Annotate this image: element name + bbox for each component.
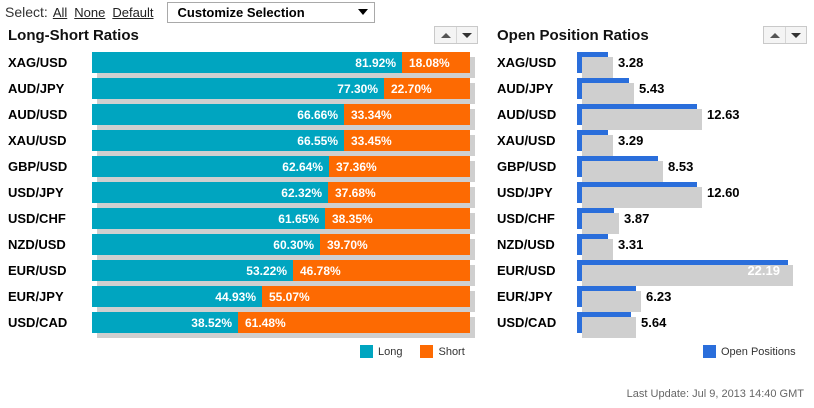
- pair-label: AUD/JPY: [8, 78, 92, 99]
- pair-label: AUD/JPY: [497, 78, 577, 99]
- long-short-ratios-panel: Long-Short Ratios XAG/USD81.92%18.08%AUD…: [8, 26, 478, 338]
- long-short-bar-track: 81.92%18.08%: [92, 52, 470, 73]
- open-position-bar[interactable]: 22.19: [577, 260, 788, 281]
- long-short-chart: XAG/USD81.92%18.08%AUD/JPY77.30%22.70%AU…: [8, 52, 478, 338]
- open-position-bar[interactable]: 5.64: [577, 312, 631, 333]
- long-segment[interactable]: 81.92%: [92, 52, 402, 73]
- open-position-value: 3.28: [618, 52, 643, 73]
- pair-label: USD/CHF: [8, 208, 92, 229]
- open-position-bar[interactable]: 3.31: [577, 234, 608, 255]
- long-short-row: AUD/USD66.66%33.34%: [8, 104, 478, 130]
- short-segment[interactable]: 61.48%: [238, 312, 470, 333]
- long-short-row: EUR/JPY44.93%55.07%: [8, 286, 478, 312]
- pair-label: NZD/USD: [497, 234, 577, 255]
- pair-label: USD/CAD: [497, 312, 577, 333]
- pair-label: GBP/USD: [8, 156, 92, 177]
- short-segment[interactable]: 33.34%: [344, 104, 470, 125]
- open-position-value: 8.53: [668, 156, 693, 177]
- long-short-bar-track: 66.55%33.45%: [92, 130, 470, 151]
- long-segment[interactable]: 66.66%: [92, 104, 344, 125]
- open-position-row: XAU/USD3.29: [497, 130, 807, 156]
- long-short-row: AUD/JPY77.30%22.70%: [8, 78, 478, 104]
- sort-descending-icon[interactable]: [785, 27, 806, 43]
- short-segment[interactable]: 22.70%: [384, 78, 470, 99]
- long-short-row: USD/CAD38.52%61.48%: [8, 312, 478, 338]
- legend-item: Long: [360, 345, 402, 358]
- long-short-bar-track: 62.32%37.68%: [92, 182, 470, 203]
- legend-label: Long: [378, 346, 402, 358]
- customize-selection-value: Customize Selection: [178, 5, 305, 20]
- long-short-row: NZD/USD60.30%39.70%: [8, 234, 478, 260]
- long-short-panel-header: Long-Short Ratios: [8, 26, 478, 52]
- long-segment[interactable]: 61.65%: [92, 208, 325, 229]
- pair-label: XAU/USD: [497, 130, 577, 151]
- long-short-bar-track: 44.93%55.07%: [92, 286, 470, 307]
- legend-label: Open Positions: [721, 346, 796, 358]
- open-position-row: NZD/USD3.31: [497, 234, 807, 260]
- short-segment[interactable]: 33.45%: [344, 130, 470, 151]
- open-position-row: USD/CHF3.87: [497, 208, 807, 234]
- open-position-bar[interactable]: 12.60: [577, 182, 697, 203]
- open-position-bar-track: 3.31: [577, 234, 805, 255]
- legend-item: Short: [420, 345, 464, 358]
- pair-label: XAG/USD: [8, 52, 92, 73]
- open-position-bar-track: 3.28: [577, 52, 805, 73]
- open-position-bar-track: 6.23: [577, 286, 805, 307]
- pair-label: XAU/USD: [8, 130, 92, 151]
- open-position-title: Open Position Ratios: [497, 26, 807, 46]
- legend-swatch: [420, 345, 433, 358]
- open-position-value: 5.64: [641, 312, 666, 333]
- open-position-bar-track: 12.60: [577, 182, 805, 203]
- legend-item: Open Positions: [703, 345, 796, 358]
- long-short-row: XAG/USD81.92%18.08%: [8, 52, 478, 78]
- select-none-link[interactable]: None: [74, 5, 105, 20]
- open-position-value: 3.87: [624, 208, 649, 229]
- short-segment[interactable]: 55.07%: [262, 286, 470, 307]
- open-position-bar[interactable]: 12.63: [577, 104, 697, 125]
- long-short-bar-track: 77.30%22.70%: [92, 78, 470, 99]
- open-position-ratios-panel: Open Position Ratios XAG/USD3.28AUD/JPY5…: [497, 26, 807, 338]
- long-segment[interactable]: 44.93%: [92, 286, 262, 307]
- open-position-row: USD/JPY12.60: [497, 182, 807, 208]
- long-short-row: USD/JPY62.32%37.68%: [8, 182, 478, 208]
- long-short-row: XAU/USD66.55%33.45%: [8, 130, 478, 156]
- open-position-bar[interactable]: 5.43: [577, 78, 629, 99]
- long-short-bar-track: 38.52%61.48%: [92, 312, 470, 333]
- select-all-link[interactable]: All: [53, 5, 67, 20]
- pair-label: AUD/USD: [8, 104, 92, 125]
- long-short-row: GBP/USD62.64%37.36%: [8, 156, 478, 182]
- short-segment[interactable]: 37.36%: [329, 156, 470, 177]
- open-position-panel-header: Open Position Ratios: [497, 26, 807, 52]
- open-position-value: 5.43: [639, 78, 664, 99]
- open-position-bar-track: 3.29: [577, 130, 805, 151]
- open-position-value: 12.60: [707, 182, 740, 203]
- open-position-bar-track: 5.64: [577, 312, 805, 333]
- open-position-row: EUR/USD22.19: [497, 260, 807, 286]
- last-update-text: Last Update: Jul 9, 2013 14:40 GMT: [627, 388, 804, 400]
- pair-label: USD/CAD: [8, 312, 92, 333]
- open-position-bar[interactable]: 8.53: [577, 156, 658, 177]
- sort-ascending-icon[interactable]: [764, 27, 785, 43]
- select-label: Select:: [5, 4, 48, 20]
- long-segment[interactable]: 53.22%: [92, 260, 293, 281]
- open-position-bar-track: 5.43: [577, 78, 805, 99]
- long-short-bar-track: 66.66%33.34%: [92, 104, 470, 125]
- pair-label: EUR/USD: [497, 260, 577, 281]
- open-position-bar[interactable]: 6.23: [577, 286, 636, 307]
- pair-label: USD/JPY: [8, 182, 92, 203]
- long-segment[interactable]: 60.30%: [92, 234, 320, 255]
- long-segment[interactable]: 62.32%: [92, 182, 328, 203]
- pair-label: EUR/JPY: [8, 286, 92, 307]
- pair-label: USD/JPY: [497, 182, 577, 203]
- legend-swatch: [703, 345, 716, 358]
- long-short-bar-track: 60.30%39.70%: [92, 234, 470, 255]
- pair-label: NZD/USD: [8, 234, 92, 255]
- legend-swatch: [360, 345, 373, 358]
- short-segment[interactable]: 46.78%: [293, 260, 470, 281]
- open-position-row: GBP/USD8.53: [497, 156, 807, 182]
- pair-label: EUR/JPY: [497, 286, 577, 307]
- open-position-bar[interactable]: 3.28: [577, 52, 608, 73]
- customize-selection-dropdown[interactable]: Customize Selection: [167, 2, 375, 23]
- open-position-row: XAG/USD3.28: [497, 52, 807, 78]
- long-short-row: EUR/USD53.22%46.78%: [8, 260, 478, 286]
- open-position-legend: Open Positions: [703, 345, 808, 358]
- open-position-bar[interactable]: 3.29: [577, 130, 608, 151]
- open-position-bar-track: 3.87: [577, 208, 805, 229]
- long-short-bar-track: 61.65%38.35%: [92, 208, 470, 229]
- open-position-row: EUR/JPY6.23: [497, 286, 807, 312]
- select-default-link[interactable]: Default: [112, 5, 153, 20]
- open-position-value: 6.23: [646, 286, 671, 307]
- open-position-bar-track: 8.53: [577, 156, 805, 177]
- open-position-value: 3.31: [618, 234, 643, 255]
- pair-label: XAG/USD: [497, 52, 577, 73]
- sort-descending-icon[interactable]: [456, 27, 477, 43]
- long-segment[interactable]: 66.55%: [92, 130, 344, 151]
- open-position-value: 12.63: [707, 104, 740, 125]
- long-segment[interactable]: 38.52%: [92, 312, 238, 333]
- pair-label: USD/CHF: [497, 208, 577, 229]
- chevron-down-icon: [358, 9, 368, 15]
- selection-toolbar: Select: All None Default Customize Selec…: [0, 0, 814, 24]
- open-position-chart: XAG/USD3.28AUD/JPY5.43AUD/USD12.63XAU/US…: [497, 52, 807, 338]
- long-short-row: USD/CHF61.65%38.35%: [8, 208, 478, 234]
- long-short-legend: LongShort: [360, 345, 477, 358]
- open-position-value: 3.29: [618, 130, 643, 151]
- short-segment[interactable]: 39.70%: [320, 234, 470, 255]
- pair-label: AUD/USD: [497, 104, 577, 125]
- open-position-bar-track: 12.63: [577, 104, 805, 125]
- pair-label: GBP/USD: [497, 156, 577, 177]
- long-short-bar-track: 62.64%37.36%: [92, 156, 470, 177]
- long-short-sort-controls: [434, 26, 478, 44]
- open-position-row: USD/CAD5.64: [497, 312, 807, 338]
- long-short-bar-track: 53.22%46.78%: [92, 260, 470, 281]
- sort-ascending-icon[interactable]: [435, 27, 456, 43]
- long-segment[interactable]: 62.64%: [92, 156, 329, 177]
- short-segment[interactable]: 37.68%: [328, 182, 470, 203]
- open-position-bar[interactable]: 3.87: [577, 208, 614, 229]
- short-segment[interactable]: 38.35%: [325, 208, 470, 229]
- legend-label: Short: [438, 346, 464, 358]
- short-segment[interactable]: 18.08%: [402, 52, 470, 73]
- open-position-value: 22.19: [747, 260, 780, 281]
- long-short-title: Long-Short Ratios: [8, 26, 478, 46]
- pair-label: EUR/USD: [8, 260, 92, 281]
- long-segment[interactable]: 77.30%: [92, 78, 384, 99]
- open-position-row: AUD/USD12.63: [497, 104, 807, 130]
- open-position-sort-controls: [763, 26, 807, 44]
- open-position-row: AUD/JPY5.43: [497, 78, 807, 104]
- open-position-bar-track: 22.19: [577, 260, 805, 281]
